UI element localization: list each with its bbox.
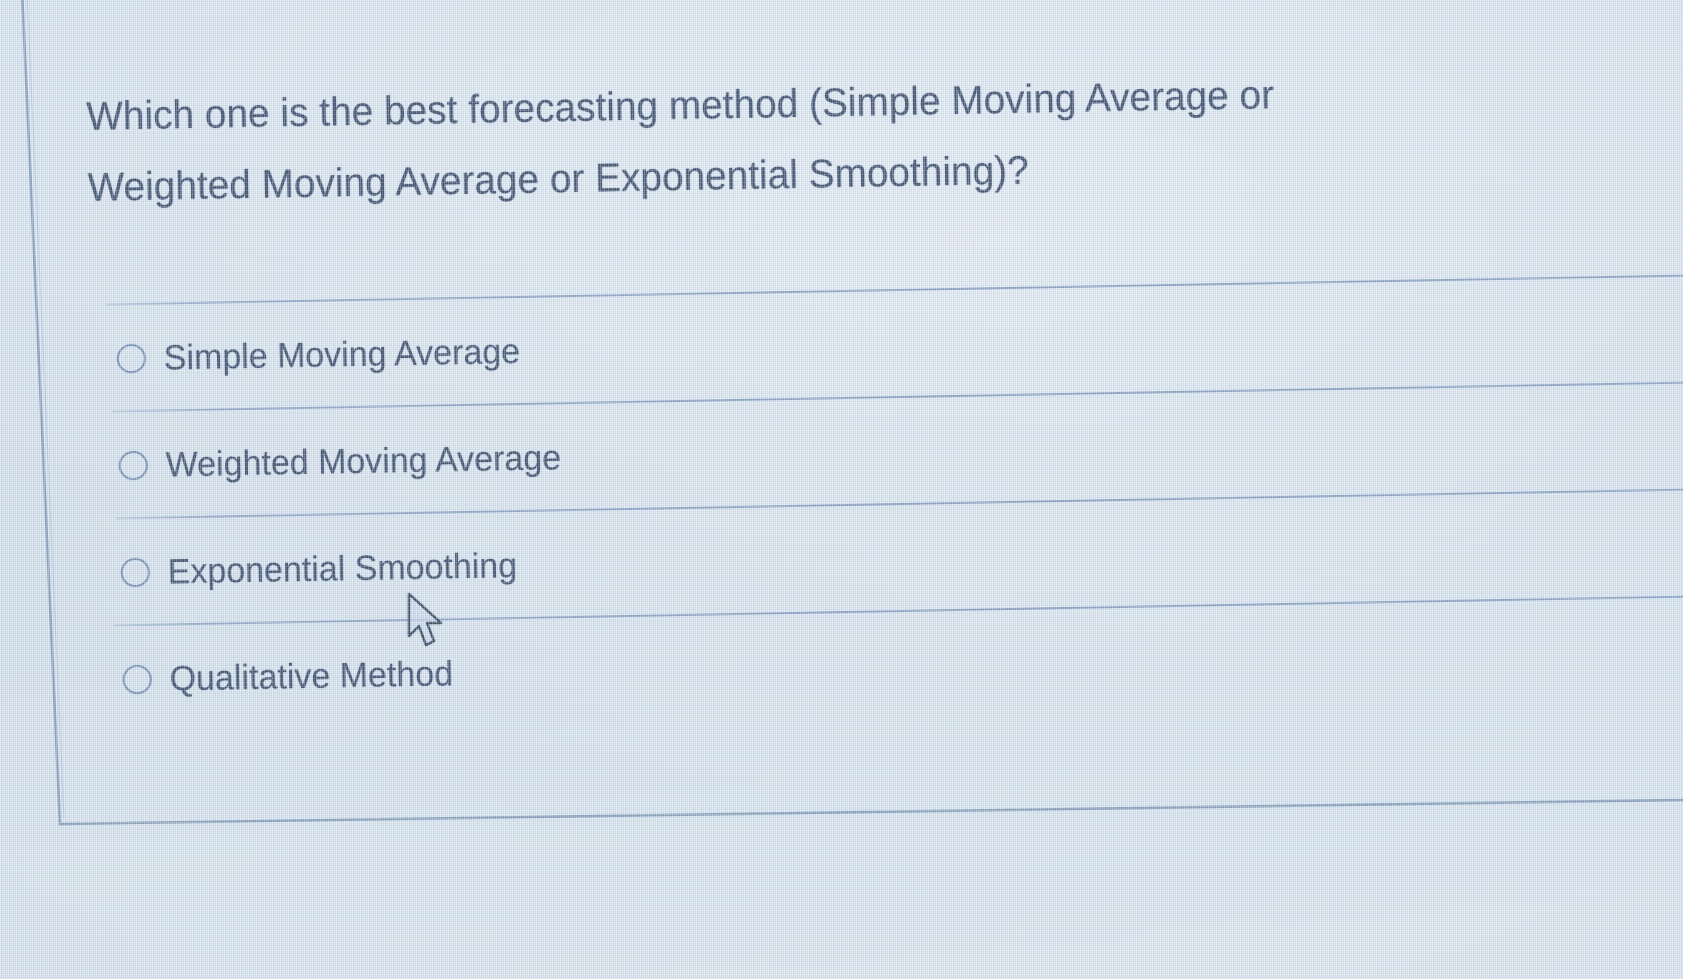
radio-button-icon[interactable] [119,451,149,481]
answer-option-label: Exponential Smoothing [167,548,517,589]
quiz-content: Which one is the best forecasting method… [0,0,1683,979]
mouse-pointer-arrow-icon [405,592,447,650]
answer-option-label: Qualitative Method [169,656,453,696]
radio-button-icon[interactable] [117,344,147,374]
answer-option-label: Weighted Moving Average [165,440,561,482]
radio-button-icon[interactable] [121,558,151,588]
answer-option-label: Simple Moving Average [164,334,521,376]
radio-button-icon[interactable] [122,665,152,695]
answer-options-list: Simple Moving Average Weighted Moving Av… [0,275,1683,734]
photographed-screen: Which one is the best forecasting method… [0,0,1683,979]
question-text: Which one is the best forecasting method… [86,57,1439,224]
option-divider [106,274,1683,306]
